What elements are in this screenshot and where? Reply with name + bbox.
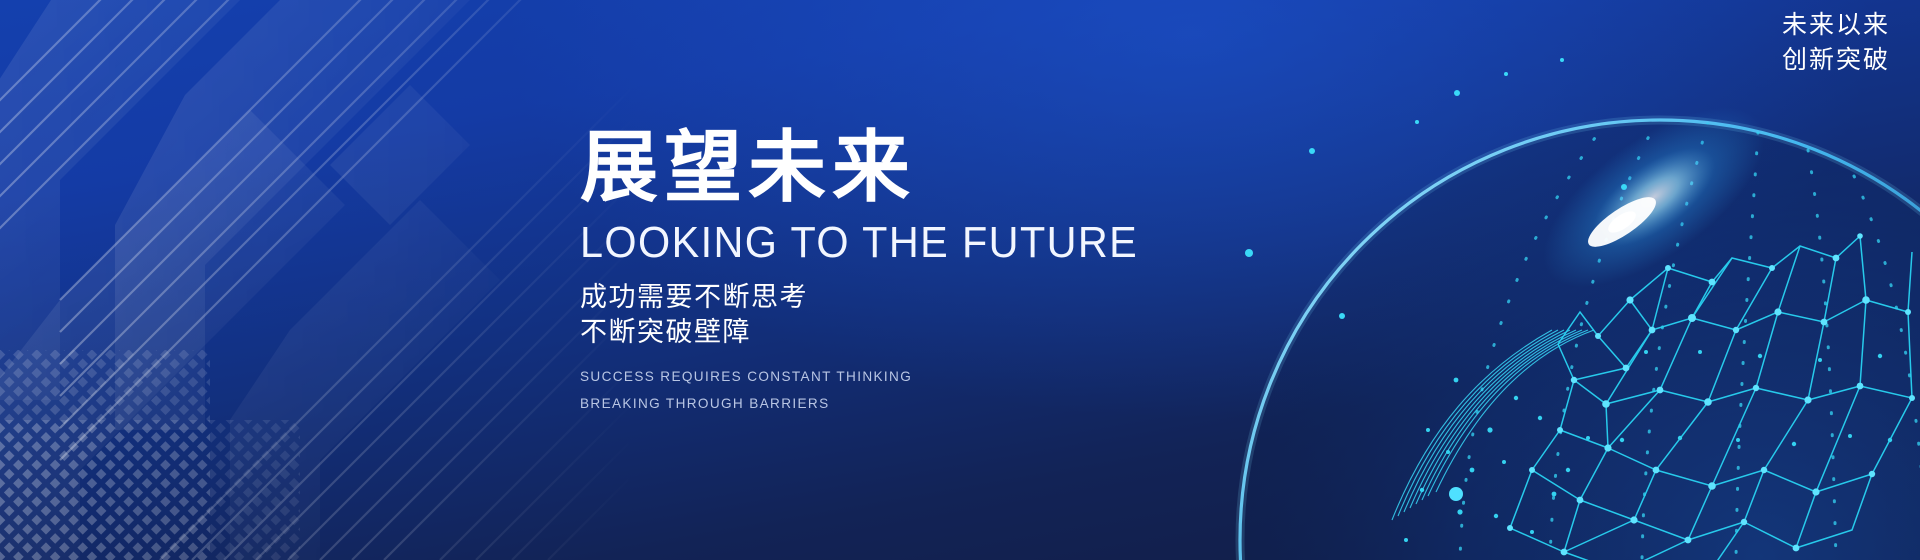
subheadline-english-line-1: SUCCESS REQUIRES CONSTANT THINKING — [580, 363, 1162, 390]
corner-tagline-line-2: 创新突破 — [1782, 43, 1890, 78]
subheadline-chinese-group: 成功需要不断思考 不断突破壁障 — [580, 280, 1180, 351]
globe-decoration — [1160, 0, 1920, 560]
promo-banner: 展望未来 LOOKING TO THE FUTURE 成功需要不断思考 不断突破… — [0, 0, 1920, 560]
subheadline-english-group: SUCCESS REQUIRES CONSTANT THINKING BREAK… — [580, 363, 1180, 418]
globe-surface-dots — [1404, 350, 1892, 542]
sparkle-dots — [1245, 58, 1627, 319]
globe-meridians — [1460, 118, 1920, 560]
subheadline-chinese-line-2: 不断突破壁障 — [580, 315, 1180, 351]
geo-stripes — [0, 0, 640, 560]
dot-grid-decoration — [0, 350, 300, 560]
globe-limb-dot — [1449, 487, 1463, 501]
globe-glow-flare — [1515, 74, 1794, 321]
page-title-english: LOOKING TO THE FUTURE — [580, 220, 1144, 266]
globe-latitude-lines — [1392, 330, 1594, 520]
globe-network-nodes — [1507, 233, 1915, 555]
subheadline-chinese-line-1: 成功需要不断思考 — [580, 280, 1180, 316]
headline-block: 展望未来 LOOKING TO THE FUTURE 成功需要不断思考 不断突破… — [580, 128, 1180, 418]
subheadline-english-line-2: BREAKING THROUGH BARRIERS — [580, 390, 1162, 417]
globe-network-mesh — [1510, 236, 1912, 560]
geo-panel-group — [0, 0, 500, 560]
corner-tagline-line-1: 未来以来 — [1782, 8, 1890, 43]
corner-tagline: 未来以来 创新突破 — [1782, 8, 1890, 77]
left-geometric-decoration — [0, 0, 640, 560]
page-title-chinese: 展望未来 — [580, 128, 1180, 208]
